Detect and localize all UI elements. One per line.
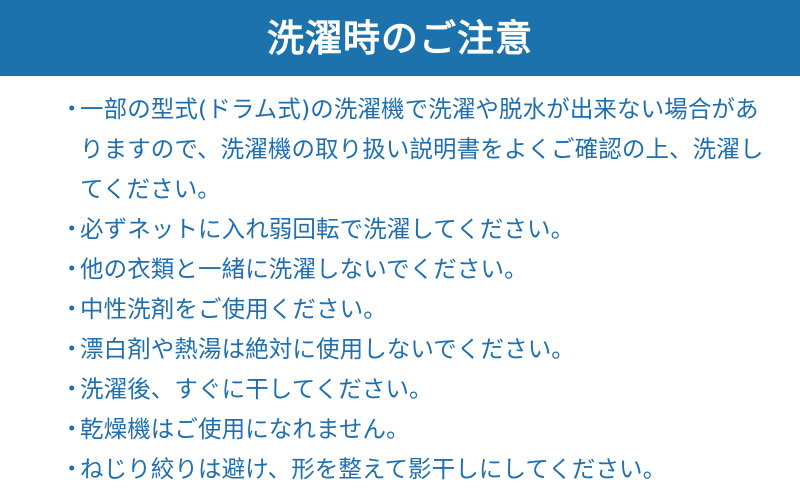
- bullet-icon: ・: [60, 89, 84, 129]
- list-item-no-bleach-hot-water: ・ 漂白剤や熱湯は絶対に使用しないでください。: [56, 329, 780, 369]
- list-item-label: 必ずネットに入れ弱回転で洗濯してください。: [80, 209, 780, 249]
- care-instruction-list: ・ 一部の型式(ドラム式)の洗濯機で洗濯や脱水が出来ない場合がありますので、洗濯…: [56, 89, 780, 489]
- laundry-care-notice-card: 洗濯時のご注意 ・ 一部の型式(ドラム式)の洗濯機で洗濯や脱水が出来ない場合があ…: [0, 0, 800, 495]
- bullet-icon: ・: [60, 209, 84, 249]
- bullet-icon: ・: [60, 249, 84, 289]
- list-item-label: 中性洗剤をご使用ください。: [80, 289, 780, 329]
- list-item-no-dryer: ・ 乾燥機はご使用になれません。: [56, 409, 780, 449]
- list-item-label: 洗濯後、すぐに干してください。: [80, 369, 780, 409]
- bullet-icon: ・: [60, 449, 84, 489]
- list-item-label: 一部の型式(ドラム式)の洗濯機で洗濯や脱水が出来ない場合がありますので、洗濯機の…: [80, 89, 770, 209]
- notice-header-band: 洗濯時のご注意: [0, 0, 800, 76]
- list-item-wash-separately: ・ 他の衣類と一緒に洗濯しないでください。: [56, 249, 780, 289]
- list-item-label: 他の衣類と一緒に洗濯しないでください。: [80, 249, 780, 289]
- page-title: 洗濯時のご注意: [267, 20, 533, 57]
- list-item-dry-immediately: ・ 洗濯後、すぐに干してください。: [56, 369, 780, 409]
- notice-body: ・ 一部の型式(ドラム式)の洗濯機で洗濯や脱水が出来ない場合がありますので、洗濯…: [0, 76, 800, 489]
- bullet-icon: ・: [60, 289, 84, 329]
- list-item-label: 漂白剤や熱湯は絶対に使用しないでください。: [80, 329, 780, 369]
- list-item-label: ねじり絞りは避け、形を整えて影干しにしてください。: [80, 449, 780, 489]
- list-item-no-wringing-shade-dry: ・ ねじり絞りは避け、形を整えて影干しにしてください。: [56, 449, 780, 489]
- list-item-label: 乾燥機はご使用になれません。: [80, 409, 780, 449]
- list-item-drum-washer-warning: ・ 一部の型式(ドラム式)の洗濯機で洗濯や脱水が出来ない場合がありますので、洗濯…: [56, 89, 770, 209]
- bullet-icon: ・: [60, 369, 84, 409]
- list-item-use-laundry-net: ・ 必ずネットに入れ弱回転で洗濯してください。: [56, 209, 780, 249]
- bullet-icon: ・: [60, 409, 84, 449]
- list-item-neutral-detergent: ・ 中性洗剤をご使用ください。: [56, 289, 780, 329]
- bullet-icon: ・: [60, 329, 84, 369]
